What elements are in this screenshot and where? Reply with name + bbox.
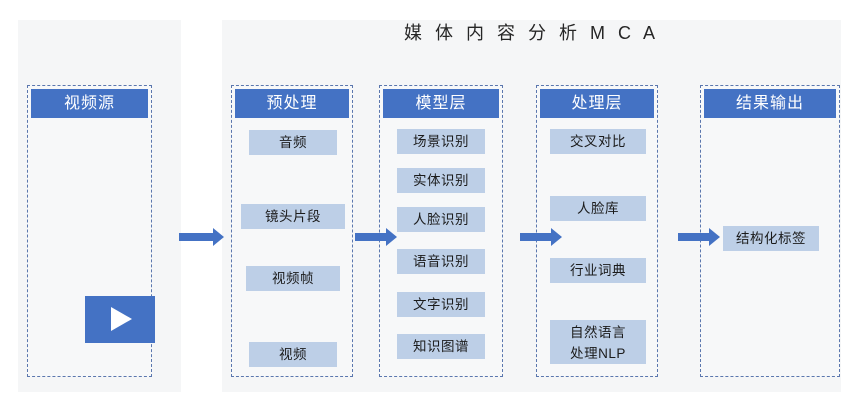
column-result-output: 结果输出 结构化标签 [700, 85, 840, 377]
arrow-proc-to-output [678, 228, 720, 246]
node-video[interactable]: 视频 [249, 342, 337, 367]
arrow-head [213, 228, 224, 246]
diagram-canvas: 媒 体 内 容 分 析 M C A 视频源 预处理 音频 镜头片段 视频帧 视频… [0, 0, 859, 411]
node-nlp[interactable]: 自然语言 处理NLP [550, 320, 646, 364]
arrow-head [709, 228, 720, 246]
node-scene-recognition[interactable]: 场景识别 [397, 129, 485, 154]
node-nlp-line1: 自然语言 [550, 322, 646, 343]
column-preprocessing: 预处理 音频 镜头片段 视频帧 视频 [231, 85, 353, 377]
column-video-source: 视频源 [27, 85, 152, 377]
node-audio[interactable]: 音频 [249, 130, 337, 155]
column-header-processing-layer: 处理层 [540, 89, 654, 118]
node-entity-recognition[interactable]: 实体识别 [397, 168, 485, 193]
column-header-model-layer: 模型层 [383, 89, 499, 118]
column-header-result-output: 结果输出 [704, 89, 836, 118]
column-header-preprocessing: 预处理 [235, 89, 349, 118]
arrow-model-to-proc [520, 228, 562, 246]
arrow-head [551, 228, 562, 246]
node-structured-tags[interactable]: 结构化标签 [723, 226, 819, 251]
page-title: 媒 体 内 容 分 析 M C A [222, 19, 841, 45]
arrow-shaft [520, 233, 551, 241]
node-knowledge-graph[interactable]: 知识图谱 [397, 334, 485, 359]
play-triangle [111, 307, 132, 331]
node-video-frame[interactable]: 视频帧 [246, 266, 340, 291]
arrow-source-to-pre [179, 228, 224, 246]
node-shot-segment[interactable]: 镜头片段 [241, 204, 345, 229]
arrow-shaft [179, 233, 213, 241]
node-nlp-line2: 处理NLP [550, 343, 646, 364]
arrow-shaft [355, 233, 386, 241]
column-header-video-source: 视频源 [31, 89, 148, 118]
node-face-recognition[interactable]: 人脸识别 [397, 207, 485, 232]
arrow-pre-to-model [355, 228, 397, 246]
node-industry-lexicon[interactable]: 行业词典 [550, 258, 646, 283]
play-icon[interactable] [85, 296, 155, 343]
node-face-library[interactable]: 人脸库 [550, 196, 646, 221]
node-cross-comparison[interactable]: 交叉对比 [550, 129, 646, 154]
node-text-recognition[interactable]: 文字识别 [397, 292, 485, 317]
column-model-layer: 模型层 场景识别 实体识别 人脸识别 语音识别 文字识别 知识图谱 [379, 85, 503, 377]
arrow-shaft [678, 233, 709, 241]
arrow-head [386, 228, 397, 246]
node-speech-recognition[interactable]: 语音识别 [397, 249, 485, 274]
